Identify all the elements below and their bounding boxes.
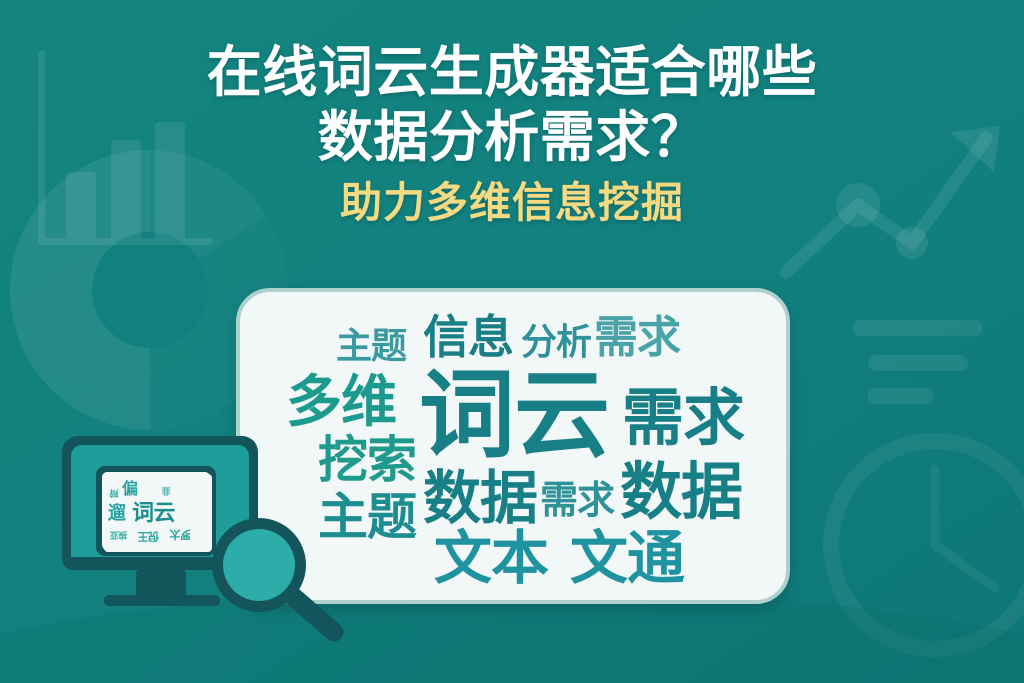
word-cloud-term: 文通 bbox=[570, 530, 684, 588]
word-cloud-term: 需求 bbox=[540, 482, 614, 520]
monitor-word-term: 词云 bbox=[132, 502, 175, 524]
word-cloud-term: 数据 bbox=[620, 462, 742, 524]
headline-block: 在线词云生成器适合哪些 数据分析需求？ 助力多维信息挖掘 bbox=[0, 40, 1024, 226]
clock-icon bbox=[823, 433, 1024, 657]
word-cloud-term: 数据 bbox=[423, 470, 537, 528]
title-line-1: 在线词云生成器适合哪些 bbox=[0, 40, 1024, 105]
monitor-word-term: 韭 bbox=[162, 486, 171, 495]
monitor-word-term: 挨亚 bbox=[110, 530, 127, 539]
magnifier-icon bbox=[212, 518, 334, 632]
monitor-illustration: 词云偏遛辩韭挨亚倪王罗太 bbox=[52, 432, 352, 647]
word-cloud-term: 文本 bbox=[434, 530, 548, 588]
monitor-word-term: 遛 bbox=[108, 504, 126, 522]
poster-canvas: 在线词云生成器适合哪些 数据分析需求？ 助力多维信息挖掘 主题信息分析需求多维词… bbox=[0, 0, 1024, 683]
title-line-2: 数据分析需求？ bbox=[0, 105, 1024, 170]
monitor-word-term: 倪王 bbox=[138, 530, 159, 541]
word-cloud-term: 需求 bbox=[594, 316, 680, 360]
monitor-word-term: 罗太 bbox=[170, 528, 191, 539]
word-cloud-term: 词云 bbox=[419, 368, 609, 464]
monitor-word-term: 辩 bbox=[110, 488, 119, 497]
word-cloud-term: 信息 bbox=[423, 314, 513, 360]
word-cloud-term: 分析 bbox=[521, 324, 591, 360]
list-bars-icon bbox=[853, 320, 983, 404]
monitor-word-term: 偏 bbox=[122, 482, 138, 498]
word-cloud-term: 主题 bbox=[336, 328, 406, 364]
word-cloud-term: 需求 bbox=[622, 388, 744, 450]
monitor-stand bbox=[104, 570, 220, 606]
word-cloud-term: 多维 bbox=[286, 374, 396, 430]
monitor-mini-word-cloud: 词云偏遛辩韭挨亚倪王罗太 bbox=[104, 474, 212, 552]
subtitle-line: 助力多维信息挖掘 bbox=[0, 180, 1024, 226]
